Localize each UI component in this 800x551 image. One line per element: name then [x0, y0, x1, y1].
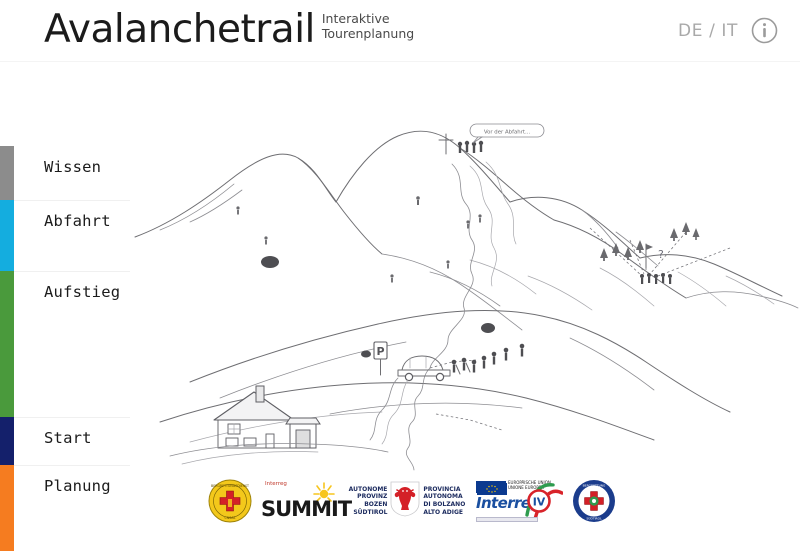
sidebar-item-abfahrt[interactable]: Abfahrt	[0, 200, 130, 271]
bergrettung-rotes-kreuz-logo: BERGRETTUNGSDIENST CNSAS	[208, 479, 252, 523]
summit-cross	[439, 134, 453, 154]
sidebar-item-start[interactable]: Start	[0, 417, 130, 465]
svg-text:IV: IV	[533, 496, 546, 509]
hiker-group	[452, 344, 525, 374]
sidebar-item-color-bar	[0, 146, 14, 200]
brand: Avalanchetrail Interaktive Tourenplanung	[44, 6, 414, 54]
summit-wordmark: SUMMIT	[261, 497, 351, 521]
sidebar-item-color-bar	[0, 465, 14, 551]
sidebar-item-color-bar	[0, 417, 14, 465]
parking-sign-icon: P	[374, 342, 387, 375]
summit-logo: Interreg SUMMIT	[261, 480, 339, 522]
sidebar-item-label: Aufstieg	[44, 283, 120, 301]
language-switcher[interactable]: DE / IT	[678, 21, 738, 41]
sidebar-nav: WissenAbfahrtAufstiegStartPlanung	[0, 62, 130, 551]
app-root: Avalanchetrail Interaktive Tourenplanung…	[0, 0, 800, 551]
page-subtitle-line2: Tourenplanung	[322, 27, 414, 42]
sidebar-divider	[14, 200, 130, 201]
sidebar-item-wissen[interactable]: Wissen	[0, 146, 130, 200]
province-text-german: AUTONOME PROVINZ BOZEN SÜDTIROL	[349, 486, 388, 516]
interreg-footer-bar	[476, 517, 538, 522]
main-stage: .l { fill:none; stroke:#6e6e72; stroke-w…	[130, 62, 800, 551]
page-subtitle: Interaktive Tourenplanung	[322, 12, 414, 41]
avalanche-terrain-sketch[interactable]: .l { fill:none; stroke:#6e6e72; stroke-w…	[130, 62, 800, 482]
summit-speech-bubble: Vor der Abfahrt...	[470, 124, 544, 143]
svg-text:BERGRETTUNG: BERGRETTUNG	[583, 484, 606, 488]
header-actions: DE / IT	[678, 17, 778, 44]
mountain-hut-icon	[170, 386, 388, 464]
sidebar-divider	[14, 465, 130, 466]
svg-text:CNSAS: CNSAS	[225, 516, 236, 520]
sidebar-item-label: Start	[44, 429, 92, 447]
svg-text:P: P	[376, 345, 384, 358]
sponsor-logo-row: BERGRETTUNGSDIENST CNSAS	[208, 470, 638, 532]
sidebar-item-label: Planung	[44, 477, 111, 495]
sidebar-divider	[14, 417, 130, 418]
car-icon	[398, 356, 450, 381]
sidebar-item-color-bar	[0, 271, 14, 417]
page-subtitle-line1: Interaktive	[322, 12, 414, 27]
sidebar-item-planung[interactable]: Planung	[0, 465, 130, 551]
eu-flag-icon	[476, 481, 506, 493]
province-text-italian: PROVINCIA AUTONOMA DI BOLZANO ALTO ADIGE	[423, 486, 465, 516]
interreg-iv-logo: EUROPÄISCHE UNIONUNIONE EUROPEA Interreg…	[475, 479, 563, 523]
summit-skier-group	[458, 141, 483, 153]
summit-tagline: Interreg	[265, 481, 287, 487]
svg-text:BERGRETTUNGSDIENST: BERGRETTUNGSDIENST	[211, 484, 249, 488]
sidebar-divider	[14, 271, 130, 272]
suedtirol-eagle-crest-icon	[390, 481, 420, 522]
sidebar-item-aufstieg[interactable]: Aufstieg	[0, 271, 130, 417]
sidebar-item-label: Wissen	[44, 158, 101, 176]
sidebar-item-label: Abfahrt	[44, 212, 111, 230]
bergrettung-suedtirol-logo: BERGRETTUNG SÜDTIROL	[572, 479, 616, 523]
forest-trees	[600, 222, 700, 261]
svg-text:Vor der Abfahrt...: Vor der Abfahrt...	[484, 130, 531, 136]
page-header: Avalanchetrail Interaktive Tourenplanung…	[0, 0, 800, 62]
svg-text:SÜDTIROL: SÜDTIROL	[586, 515, 602, 520]
svg-text:?: ?	[658, 248, 664, 261]
page-title: Avalanchetrail	[44, 6, 315, 54]
autonome-provinz-bozen-logo: AUTONOME PROVINZ BOZEN SÜDTIROL PROVI	[348, 480, 466, 522]
sidebar-item-color-bar	[0, 200, 14, 271]
info-circle-icon[interactable]	[751, 17, 778, 44]
